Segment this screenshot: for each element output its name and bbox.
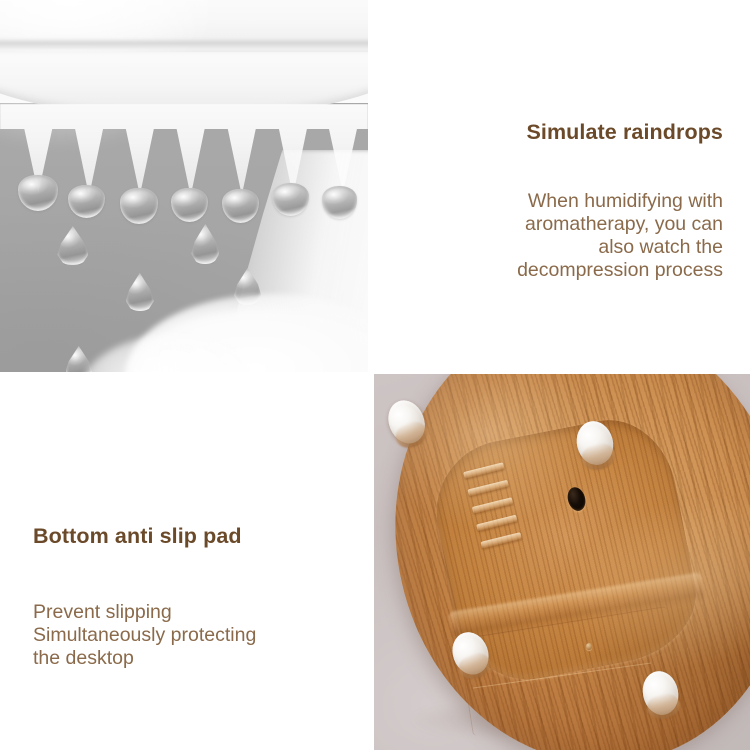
- water-curtain-scene: [0, 0, 368, 372]
- humidifier-rim-line: [0, 38, 368, 50]
- screw-point: [586, 643, 592, 650]
- body-line: Simultaneously protecting: [33, 624, 363, 647]
- raindrops-body: When humidifying with aromatherapy, you …: [375, 190, 723, 282]
- wood-base-photo: [374, 374, 750, 750]
- antislip-body: Prevent slipping Simultaneously protecti…: [33, 601, 363, 670]
- body-line: also watch the: [375, 236, 723, 259]
- antislip-text-block: Bottom anti slip pad Prevent slipping Si…: [33, 524, 363, 704]
- vent-slot: [472, 497, 514, 514]
- raindrops-heading: Simulate raindrops: [375, 120, 723, 145]
- body-line: When humidifying with: [375, 190, 723, 213]
- water-curtain-photo: [0, 0, 368, 372]
- vent-slot: [476, 515, 518, 532]
- body-line: aromatherapy, you can: [375, 213, 723, 236]
- body-line: the desktop: [33, 647, 363, 670]
- body-line: decompression process: [375, 259, 723, 282]
- vent-slot: [467, 480, 509, 497]
- body-line: Prevent slipping: [33, 601, 363, 624]
- antislip-heading: Bottom anti slip pad: [33, 524, 363, 549]
- wood-base-scene: [374, 374, 750, 750]
- product-feature-panel: Simulate raindrops When humidifying with…: [0, 0, 750, 750]
- raindrops-text-block: Simulate raindrops When humidifying with…: [375, 120, 723, 320]
